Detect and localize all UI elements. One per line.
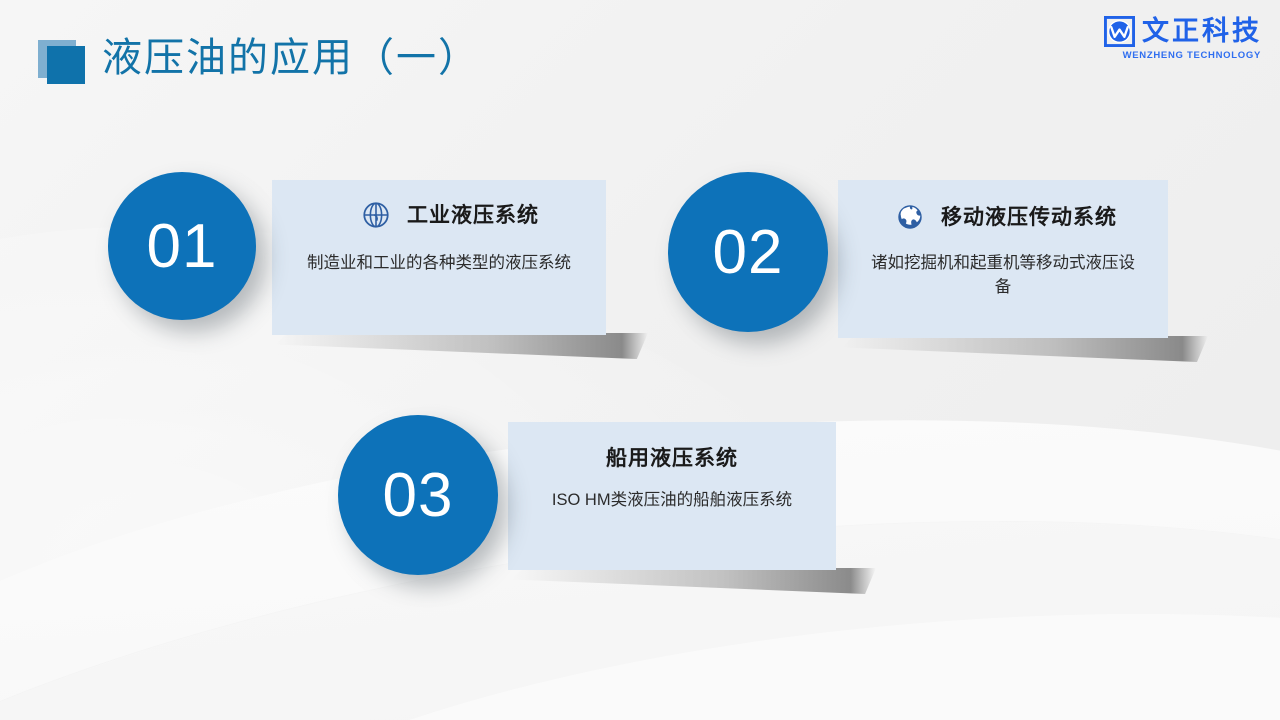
slide-header: 液压油的应用（一） xyxy=(38,28,480,88)
card-body-2: 诸如挖掘机和起重机等移动式液压设备 xyxy=(863,252,1143,300)
card-body-3: ISO HM类液压油的船舶液压系统 xyxy=(517,489,827,513)
square-front-icon xyxy=(47,46,85,84)
card-head-3: 船用液压系统 xyxy=(606,448,738,469)
card-number-badge-1[interactable]: 01 xyxy=(108,172,256,320)
brand-logo: 文正科技 WENZHENG TECHNOLOGY xyxy=(1082,16,1262,61)
card-head-1: 工业液压系统 xyxy=(361,200,539,230)
title-decoration xyxy=(38,32,94,84)
card-number-badge-3[interactable]: 03 xyxy=(338,415,498,575)
logo-row: 文正科技 xyxy=(1104,16,1262,47)
logo-name-en: WENZHENG TECHNOLOGY xyxy=(1123,50,1261,61)
globe-filled-icon xyxy=(895,202,925,232)
logo-name-cn: 文正科技 xyxy=(1142,18,1262,45)
globe-outline-icon xyxy=(361,200,391,230)
card-body-1: 制造业和工业的各种类型的液压系统 xyxy=(280,252,598,276)
card-title-2: 移动液压传动系统 xyxy=(941,207,1117,228)
card-title-3: 船用液压系统 xyxy=(606,448,738,469)
card-panel-2[interactable]: 移动液压传动系统 诸如挖掘机和起重机等移动式液压设备 xyxy=(838,180,1168,338)
slide: 液压油的应用（一） 文正科技 WENZHENG TECHNOLOGY xyxy=(0,0,1280,720)
card-title-1: 工业液压系统 xyxy=(407,205,539,226)
panel-shadow-1 xyxy=(276,333,648,359)
card-number-badge-2[interactable]: 02 xyxy=(668,172,828,332)
card-panel-1[interactable]: 工业液压系统 制造业和工业的各种类型的液压系统 xyxy=(272,180,606,335)
page-title: 液压油的应用（一） xyxy=(102,38,480,78)
panel-shadow-2 xyxy=(842,336,1208,362)
card-head-2: 移动液压传动系统 xyxy=(895,202,1117,232)
wenzheng-w-mark-icon xyxy=(1104,16,1135,47)
background-swoosh-3 xyxy=(104,561,1280,720)
card-panel-3[interactable]: 船用液压系统 ISO HM类液压油的船舶液压系统 xyxy=(508,422,836,570)
panel-shadow-3 xyxy=(512,568,876,594)
